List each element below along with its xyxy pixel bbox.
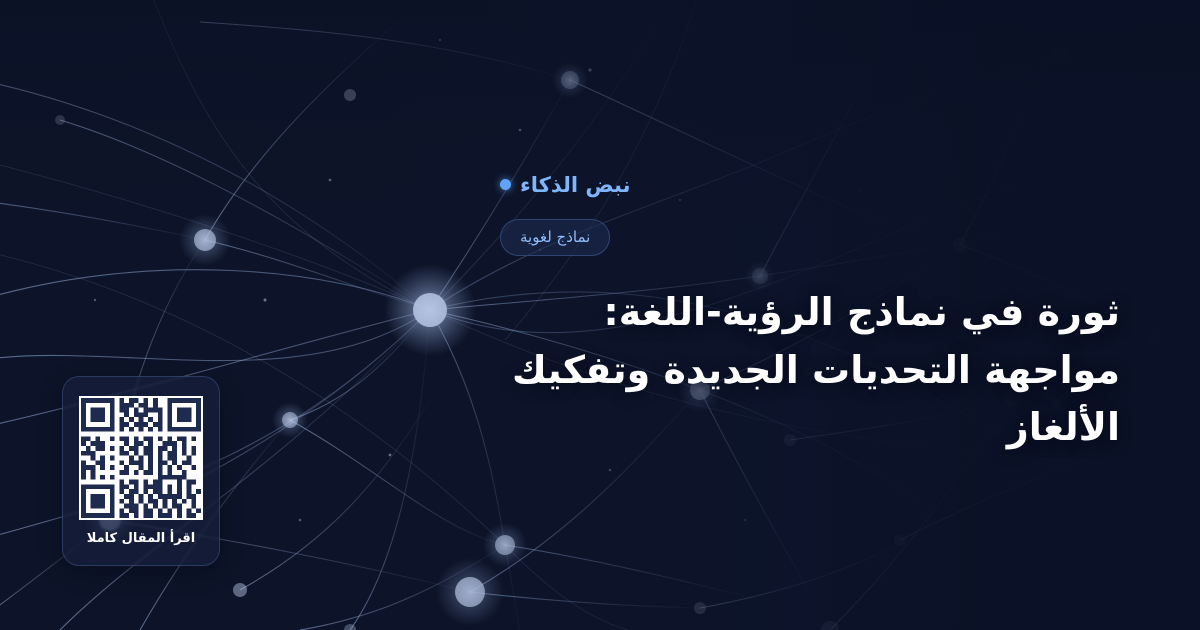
category-badge[interactable]: نماذج لغوية <box>500 219 610 256</box>
brand-dot-icon <box>500 179 511 190</box>
brand-name: نبض الذكاء <box>520 173 630 197</box>
qr-caption: اقرأ المقال كاملا <box>87 531 196 546</box>
social-share-card: اقرأ المقال كاملا نبض الذكاء نماذج لغوية… <box>0 0 1200 630</box>
content-column: نبض الذكاء نماذج لغوية ثورة في نماذج الر… <box>500 0 1140 630</box>
qr-code-card[interactable]: اقرأ المقال كاملا <box>62 376 220 566</box>
brand-lockup: نبض الذكاء <box>500 173 630 197</box>
page-title: ثورة في نماذج الرؤية-اللغة: مواجهة التحد… <box>500 284 1120 457</box>
qr-code-icon <box>79 396 203 520</box>
